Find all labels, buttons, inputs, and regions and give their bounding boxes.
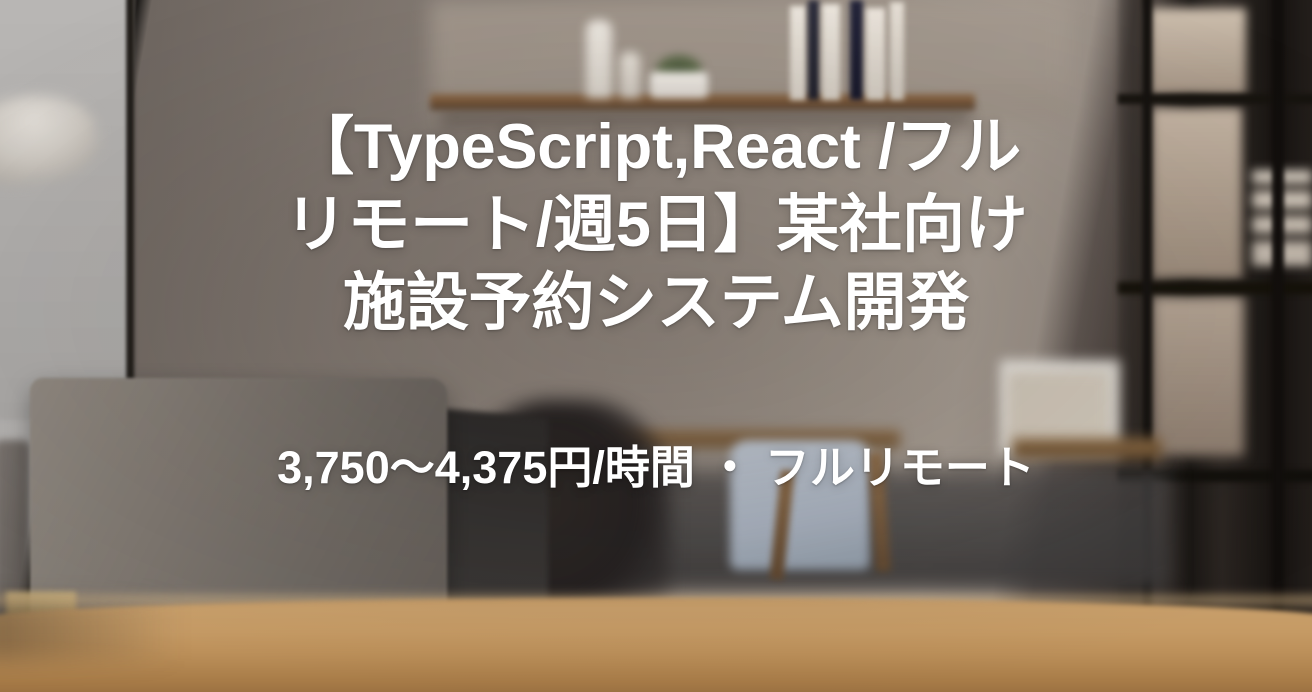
job-title: 【TypeScript,React /フルリモート/週5日】某社向け施設予約シス… xyxy=(261,108,1051,342)
text-overlay: 【TypeScript,React /フルリモート/週5日】某社向け施設予約シス… xyxy=(0,0,1312,692)
job-posting-card: 【TypeScript,React /フルリモート/週5日】某社向け施設予約シス… xyxy=(0,0,1312,692)
job-rate-and-workstyle: 3,750〜4,375円/時間 ・ フルリモート xyxy=(206,342,1106,496)
